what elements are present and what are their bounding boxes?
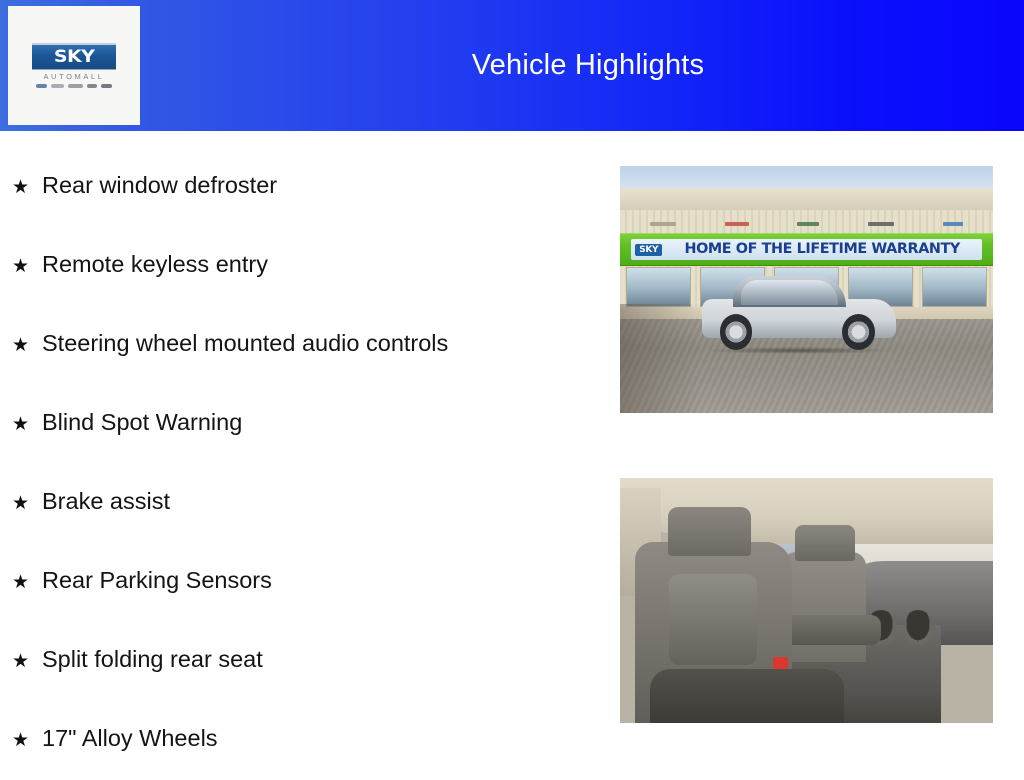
feature-label: Blind Spot Warning — [42, 383, 242, 462]
driver-headrest — [795, 525, 855, 562]
feature-label: Remote keyless entry — [42, 225, 268, 304]
exterior-photo: SKY HOME OF THE LIFETIME WARRANTY — [620, 166, 993, 413]
page-title: Vehicle Highlights — [160, 0, 1016, 131]
banner-sky-badge: SKY — [635, 244, 662, 256]
cup-holder — [903, 610, 933, 644]
logo-brand-marks — [31, 84, 117, 88]
star-icon: ★ — [12, 385, 42, 464]
jeep-sign-icon — [797, 222, 819, 226]
list-item: ★ Remote keyless entry — [12, 225, 608, 304]
chrysler-mark-icon — [51, 84, 64, 88]
armrest — [784, 615, 881, 644]
feature-label: 17" Alloy Wheels — [42, 699, 218, 778]
window-pane — [922, 267, 987, 307]
feature-label: Brake assist — [42, 462, 170, 541]
star-icon: ★ — [12, 464, 42, 543]
sky-sign-icon — [943, 222, 963, 226]
front-wheel — [720, 314, 753, 350]
star-icon: ★ — [12, 543, 42, 622]
warranty-banner-inner: SKY HOME OF THE LIFETIME WARRANTY — [631, 239, 982, 260]
passenger-seat-cushion — [650, 669, 844, 723]
list-item: ★ Brake assist — [12, 462, 608, 541]
star-icon: ★ — [12, 701, 42, 780]
star-icon: ★ — [12, 227, 42, 306]
sky-badge: SKY — [32, 43, 116, 70]
vehicle-glass — [741, 280, 838, 305]
ram-sign-icon — [868, 222, 894, 226]
ram-mark-icon — [101, 84, 112, 88]
interior-photo — [620, 478, 993, 723]
list-item: ★ Rear Parking Sensors — [12, 541, 608, 620]
vehicle-features-list: ★ Rear window defroster ★ Remote keyless… — [12, 146, 608, 778]
logo-wordmark: SKY — [54, 49, 95, 66]
dodge-mark-icon — [68, 84, 83, 88]
building-brand-signs — [650, 217, 963, 232]
dodge-sign-icon — [725, 222, 749, 226]
list-item: ★ Steering wheel mounted audio controls — [12, 304, 608, 383]
feature-label: Split folding rear seat — [42, 620, 263, 699]
warranty-banner: SKY HOME OF THE LIFETIME WARRANTY — [620, 233, 993, 266]
ground-shadow — [620, 304, 702, 413]
dealer-logo[interactable]: SKY AUTOMALL — [8, 6, 140, 125]
star-icon: ★ — [12, 148, 42, 227]
list-item: ★ Rear window defroster — [12, 146, 608, 225]
feature-label: Rear window defroster — [42, 146, 277, 225]
rear-wheel — [842, 314, 875, 350]
star-icon: ★ — [12, 622, 42, 701]
chrysler-sign-icon — [650, 222, 676, 226]
list-item: ★ Split folding rear seat — [12, 620, 608, 699]
logo-inner: SKY AUTOMALL — [30, 43, 118, 88]
logo-subtitle: AUTOMALL — [43, 73, 104, 81]
passenger-headrest — [668, 507, 750, 556]
feature-label: Rear Parking Sensors — [42, 541, 272, 620]
window-pane — [626, 267, 691, 307]
seatbelt-buckle — [773, 657, 788, 669]
header-bar: Vehicle Highlights — [0, 0, 1024, 131]
star-icon: ★ — [12, 306, 42, 385]
jeep-mark-icon — [87, 84, 97, 88]
ford-mark-icon — [36, 84, 47, 88]
list-item: ★ 17" Alloy Wheels — [12, 699, 608, 778]
list-item: ★ Blind Spot Warning — [12, 383, 608, 462]
driver-seat-back — [784, 552, 866, 662]
banner-text: HOME OF THE LIFETIME WARRANTY — [666, 242, 978, 257]
vehicle-exterior — [702, 277, 896, 351]
feature-label: Steering wheel mounted audio controls — [42, 304, 448, 383]
